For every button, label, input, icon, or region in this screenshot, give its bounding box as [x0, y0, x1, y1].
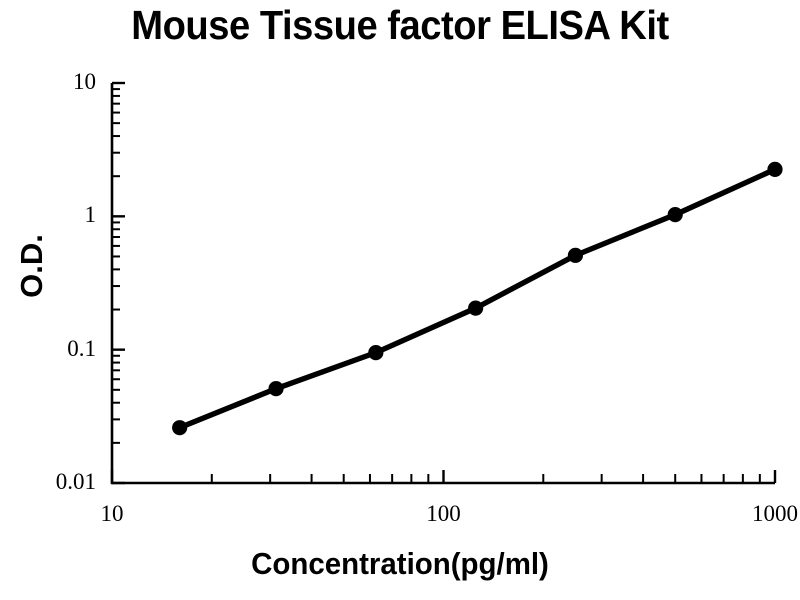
- axis-spines: [112, 83, 775, 483]
- data-point-marker: [172, 420, 187, 435]
- data-point-marker: [767, 162, 782, 177]
- axis-spine-path: [112, 83, 775, 483]
- x-axis-ticks: [112, 470, 775, 483]
- data-point-marker: [668, 207, 683, 222]
- y-axis-tick-label: 1: [0, 202, 96, 228]
- chart-figure: Mouse Tissue factor ELISA Kit O.D. Conce…: [0, 0, 800, 600]
- x-axis-tick-label: 10: [52, 501, 172, 527]
- data-point-marker: [268, 381, 283, 396]
- y-axis-tick-label: 10: [0, 69, 96, 95]
- x-axis-tick-label: 100: [384, 501, 504, 527]
- data-series: [172, 162, 783, 435]
- y-axis-tick-label: 0.01: [0, 469, 96, 495]
- data-point-marker: [468, 301, 483, 316]
- data-point-marker: [568, 248, 583, 263]
- data-point-marker: [368, 345, 383, 360]
- y-axis-tick-label: 0.1: [0, 336, 96, 362]
- x-axis-tick-label: 1000: [715, 501, 800, 527]
- y-axis-ticks: [112, 83, 125, 483]
